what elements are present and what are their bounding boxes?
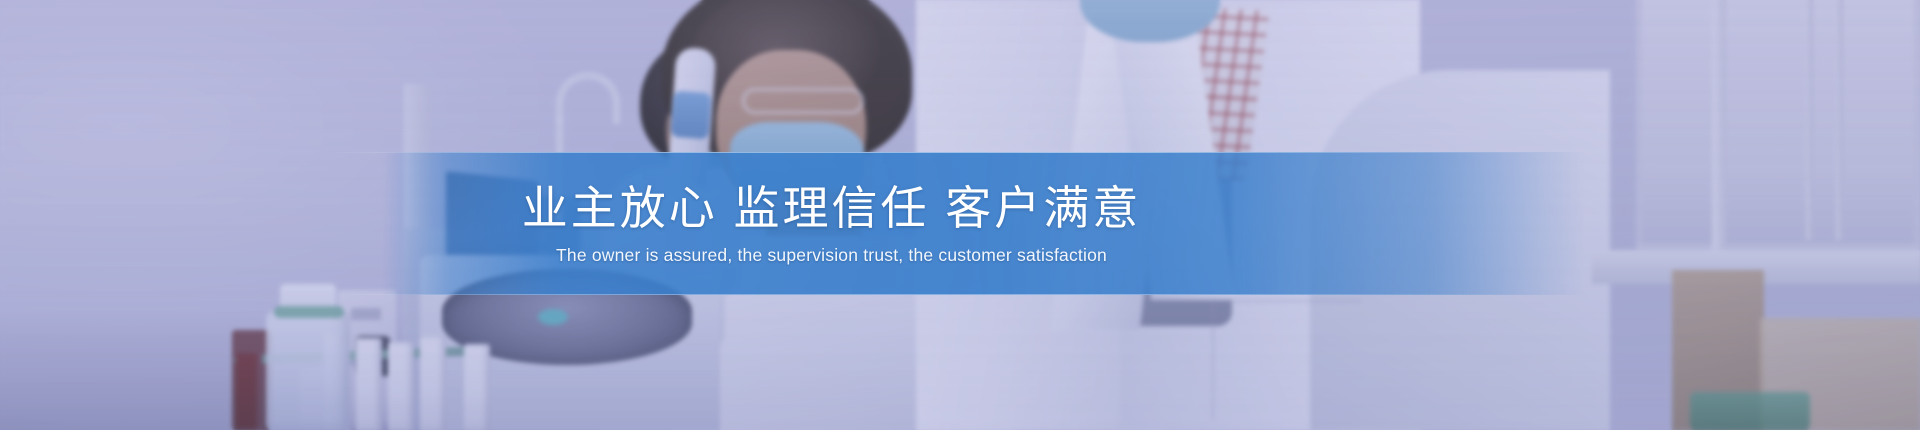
banner-headline: 业主放心 监理信任 客户满意 — [522, 181, 1142, 235]
hero-banner: 业主放心 监理信任 客户满意 The owner is assured, the… — [0, 0, 1920, 430]
banner-subheadline: The owner is assured, the supervision tr… — [556, 245, 1107, 266]
banner-text-block: 业主放心 监理信任 客户满意 The owner is assured, the… — [0, 152, 1585, 295]
